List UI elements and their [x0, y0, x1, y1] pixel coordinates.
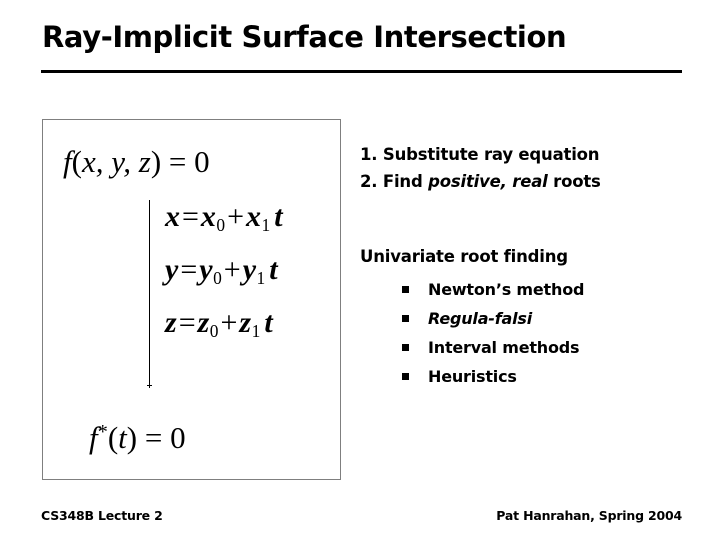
step-2-number: 2. — [360, 172, 377, 191]
list-item-label: Heuristics — [428, 367, 517, 386]
list-item: Newton’s method — [402, 275, 692, 304]
ray-z-lhs: z — [165, 306, 177, 339]
reduced-close-paren: ) — [127, 420, 137, 455]
square-bullet-icon — [402, 315, 409, 322]
ray-z-base-sub: 0 — [209, 321, 218, 341]
ray-z-dir: z — [239, 306, 251, 339]
ray-z-dir-sub: 1 — [251, 321, 260, 341]
ray-x-base: x — [201, 200, 216, 233]
ray-y-param: t — [265, 253, 277, 286]
ray-y-base: y — [199, 253, 212, 286]
implicit-equals: = — [169, 144, 186, 179]
reduced-star: * — [98, 421, 108, 443]
ray-z-param: t — [260, 306, 272, 339]
step-2-emphasis: positive, real — [428, 172, 547, 191]
ray-x-dir: x — [246, 200, 261, 233]
ray-equation-x: x=x0+x1t — [165, 200, 283, 242]
ray-y-plus: + — [222, 253, 243, 286]
step-2-suffix: roots — [548, 172, 601, 191]
square-bullet-icon — [402, 344, 409, 351]
ray-x-base-sub: 0 — [216, 215, 225, 235]
slide-canvas: Ray-Implicit Surface Intersection f(x, y… — [0, 0, 720, 540]
ray-y-dir: y — [243, 253, 256, 286]
root-finding-method-list: Newton’s method Regula-falsi Interval me… — [402, 275, 692, 391]
ray-x-plus: + — [225, 200, 246, 233]
ray-equation-z: z=z0+z1t — [165, 306, 273, 348]
system-brace-rule — [149, 200, 150, 388]
reduced-open-paren: ( — [108, 420, 118, 455]
square-bullet-icon — [402, 373, 409, 380]
title-divider — [41, 70, 682, 73]
ray-y-lhs: y — [165, 253, 178, 286]
ray-x-dir-sub: 1 — [261, 215, 270, 235]
ray-z-equals: = — [177, 306, 198, 339]
list-item-label: Interval methods — [428, 338, 579, 357]
footer-course-label: CS348B Lecture 2 — [41, 508, 163, 523]
ray-z-base: z — [198, 306, 210, 339]
step-1-text: Substitute ray equation — [383, 145, 599, 164]
reduced-rhs: 0 — [170, 420, 186, 455]
implicit-open-paren: ( — [72, 144, 82, 179]
section-heading: Univariate root finding — [360, 243, 568, 270]
implicit-close-paren: ) — [151, 144, 161, 179]
footer-author-label: Pat Hanrahan, Spring 2004 — [496, 508, 682, 523]
ray-x-lhs: x — [165, 200, 180, 233]
step-1-number: 1. — [360, 145, 377, 164]
ray-y-dir-sub: 1 — [256, 268, 265, 288]
ray-x-equals: = — [180, 200, 201, 233]
reduced-univariate-equation: f*(t) = 0 — [89, 415, 186, 455]
step-item-1: 1. Substitute ray equation — [360, 141, 690, 168]
implicit-surface-equation: f(x, y, z) = 0 — [63, 145, 210, 179]
list-item: Regula-falsi — [402, 304, 692, 333]
steps-list: 1. Substitute ray equation 2. Find posit… — [360, 141, 690, 195]
ray-x-param: t — [270, 200, 282, 233]
system-brace-tick — [147, 385, 152, 386]
square-bullet-icon — [402, 286, 409, 293]
reduced-fn: f — [89, 420, 98, 455]
list-item: Heuristics — [402, 362, 692, 391]
list-item: Interval methods — [402, 333, 692, 362]
implicit-fn: f — [63, 144, 72, 179]
reduced-arg: t — [118, 420, 127, 455]
ray-y-equals: = — [178, 253, 199, 286]
reduced-equals: = — [145, 420, 162, 455]
list-item-label: Newton’s method — [428, 280, 584, 299]
ray-y-base-sub: 0 — [213, 268, 222, 288]
step-item-2: 2. Find positive, real roots — [360, 168, 690, 195]
implicit-args: x, y, z — [82, 144, 151, 179]
implicit-rhs: 0 — [194, 144, 210, 179]
page-title: Ray-Implicit Surface Intersection — [42, 20, 682, 54]
ray-z-plus: + — [219, 306, 240, 339]
ray-equation-y: y=y0+y1t — [165, 253, 278, 295]
list-item-label: Regula-falsi — [428, 309, 532, 328]
equation-box: f(x, y, z) = 0 x=x0+x1t y=y0+y1t z=z0+z1… — [42, 119, 341, 480]
step-2-prefix: Find — [383, 172, 428, 191]
